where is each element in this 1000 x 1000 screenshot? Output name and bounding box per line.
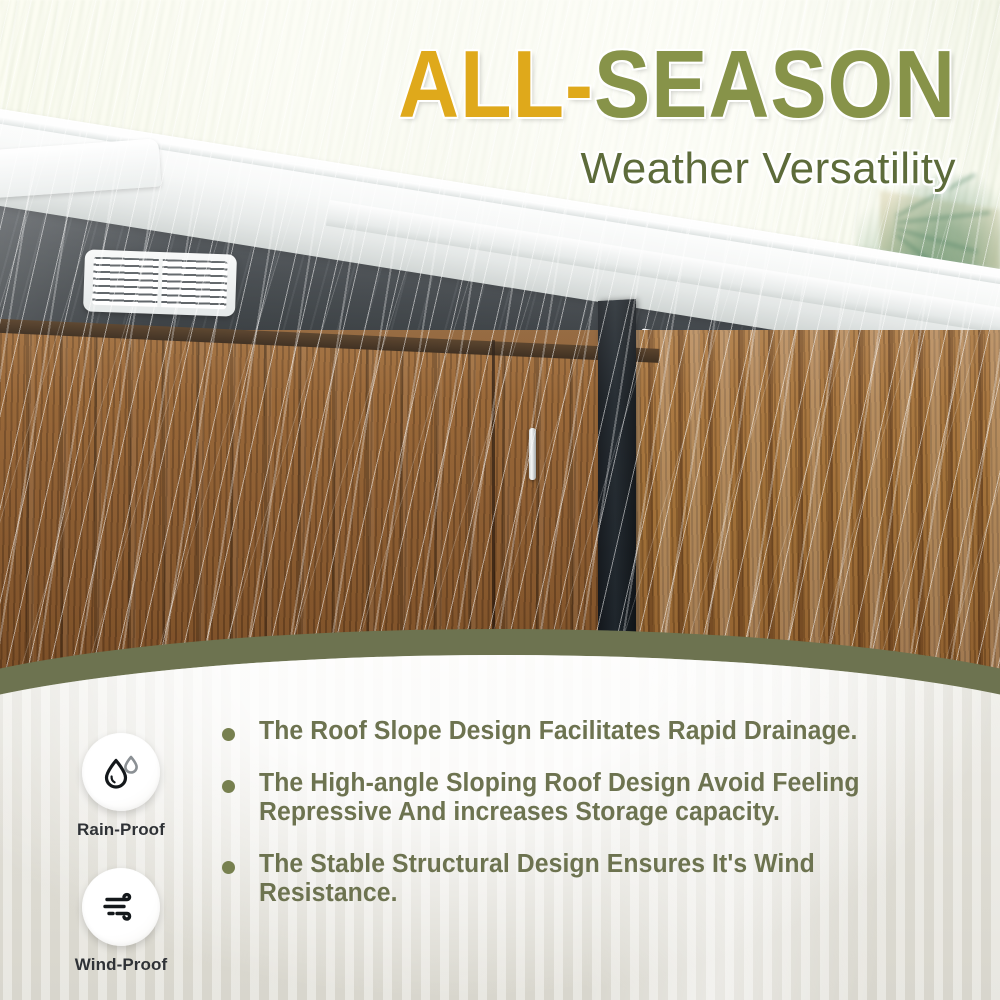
wind-icon (97, 883, 145, 931)
page-subtitle: Weather Versatility (236, 144, 956, 194)
page-title: ALL-SEASON (322, 38, 956, 132)
bullet-text: The High-angle Sloping Roof Design Avoid… (259, 769, 941, 828)
panel-content: Rain-Proof Wind-Proof (0, 655, 1000, 1000)
roof-vent (83, 249, 237, 316)
feature-panel: Rain-Proof Wind-Proof (0, 655, 1000, 1000)
feature-badges: Rain-Proof Wind-Proof (62, 733, 180, 975)
feature-bullet-list: The Roof Slope Design Facilitates Rapid … (222, 717, 962, 931)
badge-circle (82, 868, 160, 946)
bullet-dot-icon (222, 728, 235, 741)
badge-circle (82, 733, 160, 811)
bullet-dot-icon (222, 861, 235, 874)
badge-rain-proof: Rain-Proof (62, 733, 180, 840)
list-item: The Stable Structural Design Ensures It'… (222, 850, 962, 909)
bullet-text: The Roof Slope Design Facilitates Rapid … (259, 717, 858, 747)
list-item: The High-angle Sloping Roof Design Avoid… (222, 769, 962, 828)
list-item: The Roof Slope Design Facilitates Rapid … (222, 717, 962, 747)
title-part-season: SEASON (594, 31, 956, 138)
badge-label: Wind-Proof (62, 955, 180, 975)
water-drop-icon (97, 748, 145, 796)
bullet-text: The Stable Structural Design Ensures It'… (259, 850, 941, 909)
shed-door-handle (529, 428, 536, 480)
promo-image: ALL-SEASON Weather Versatility Rain-P (0, 0, 1000, 1000)
badge-wind-proof: Wind-Proof (62, 868, 180, 975)
bullet-dot-icon (222, 780, 235, 793)
title-part-all: ALL- (398, 31, 594, 138)
headline-block: ALL-SEASON Weather Versatility (236, 38, 956, 194)
badge-label: Rain-Proof (62, 820, 180, 840)
